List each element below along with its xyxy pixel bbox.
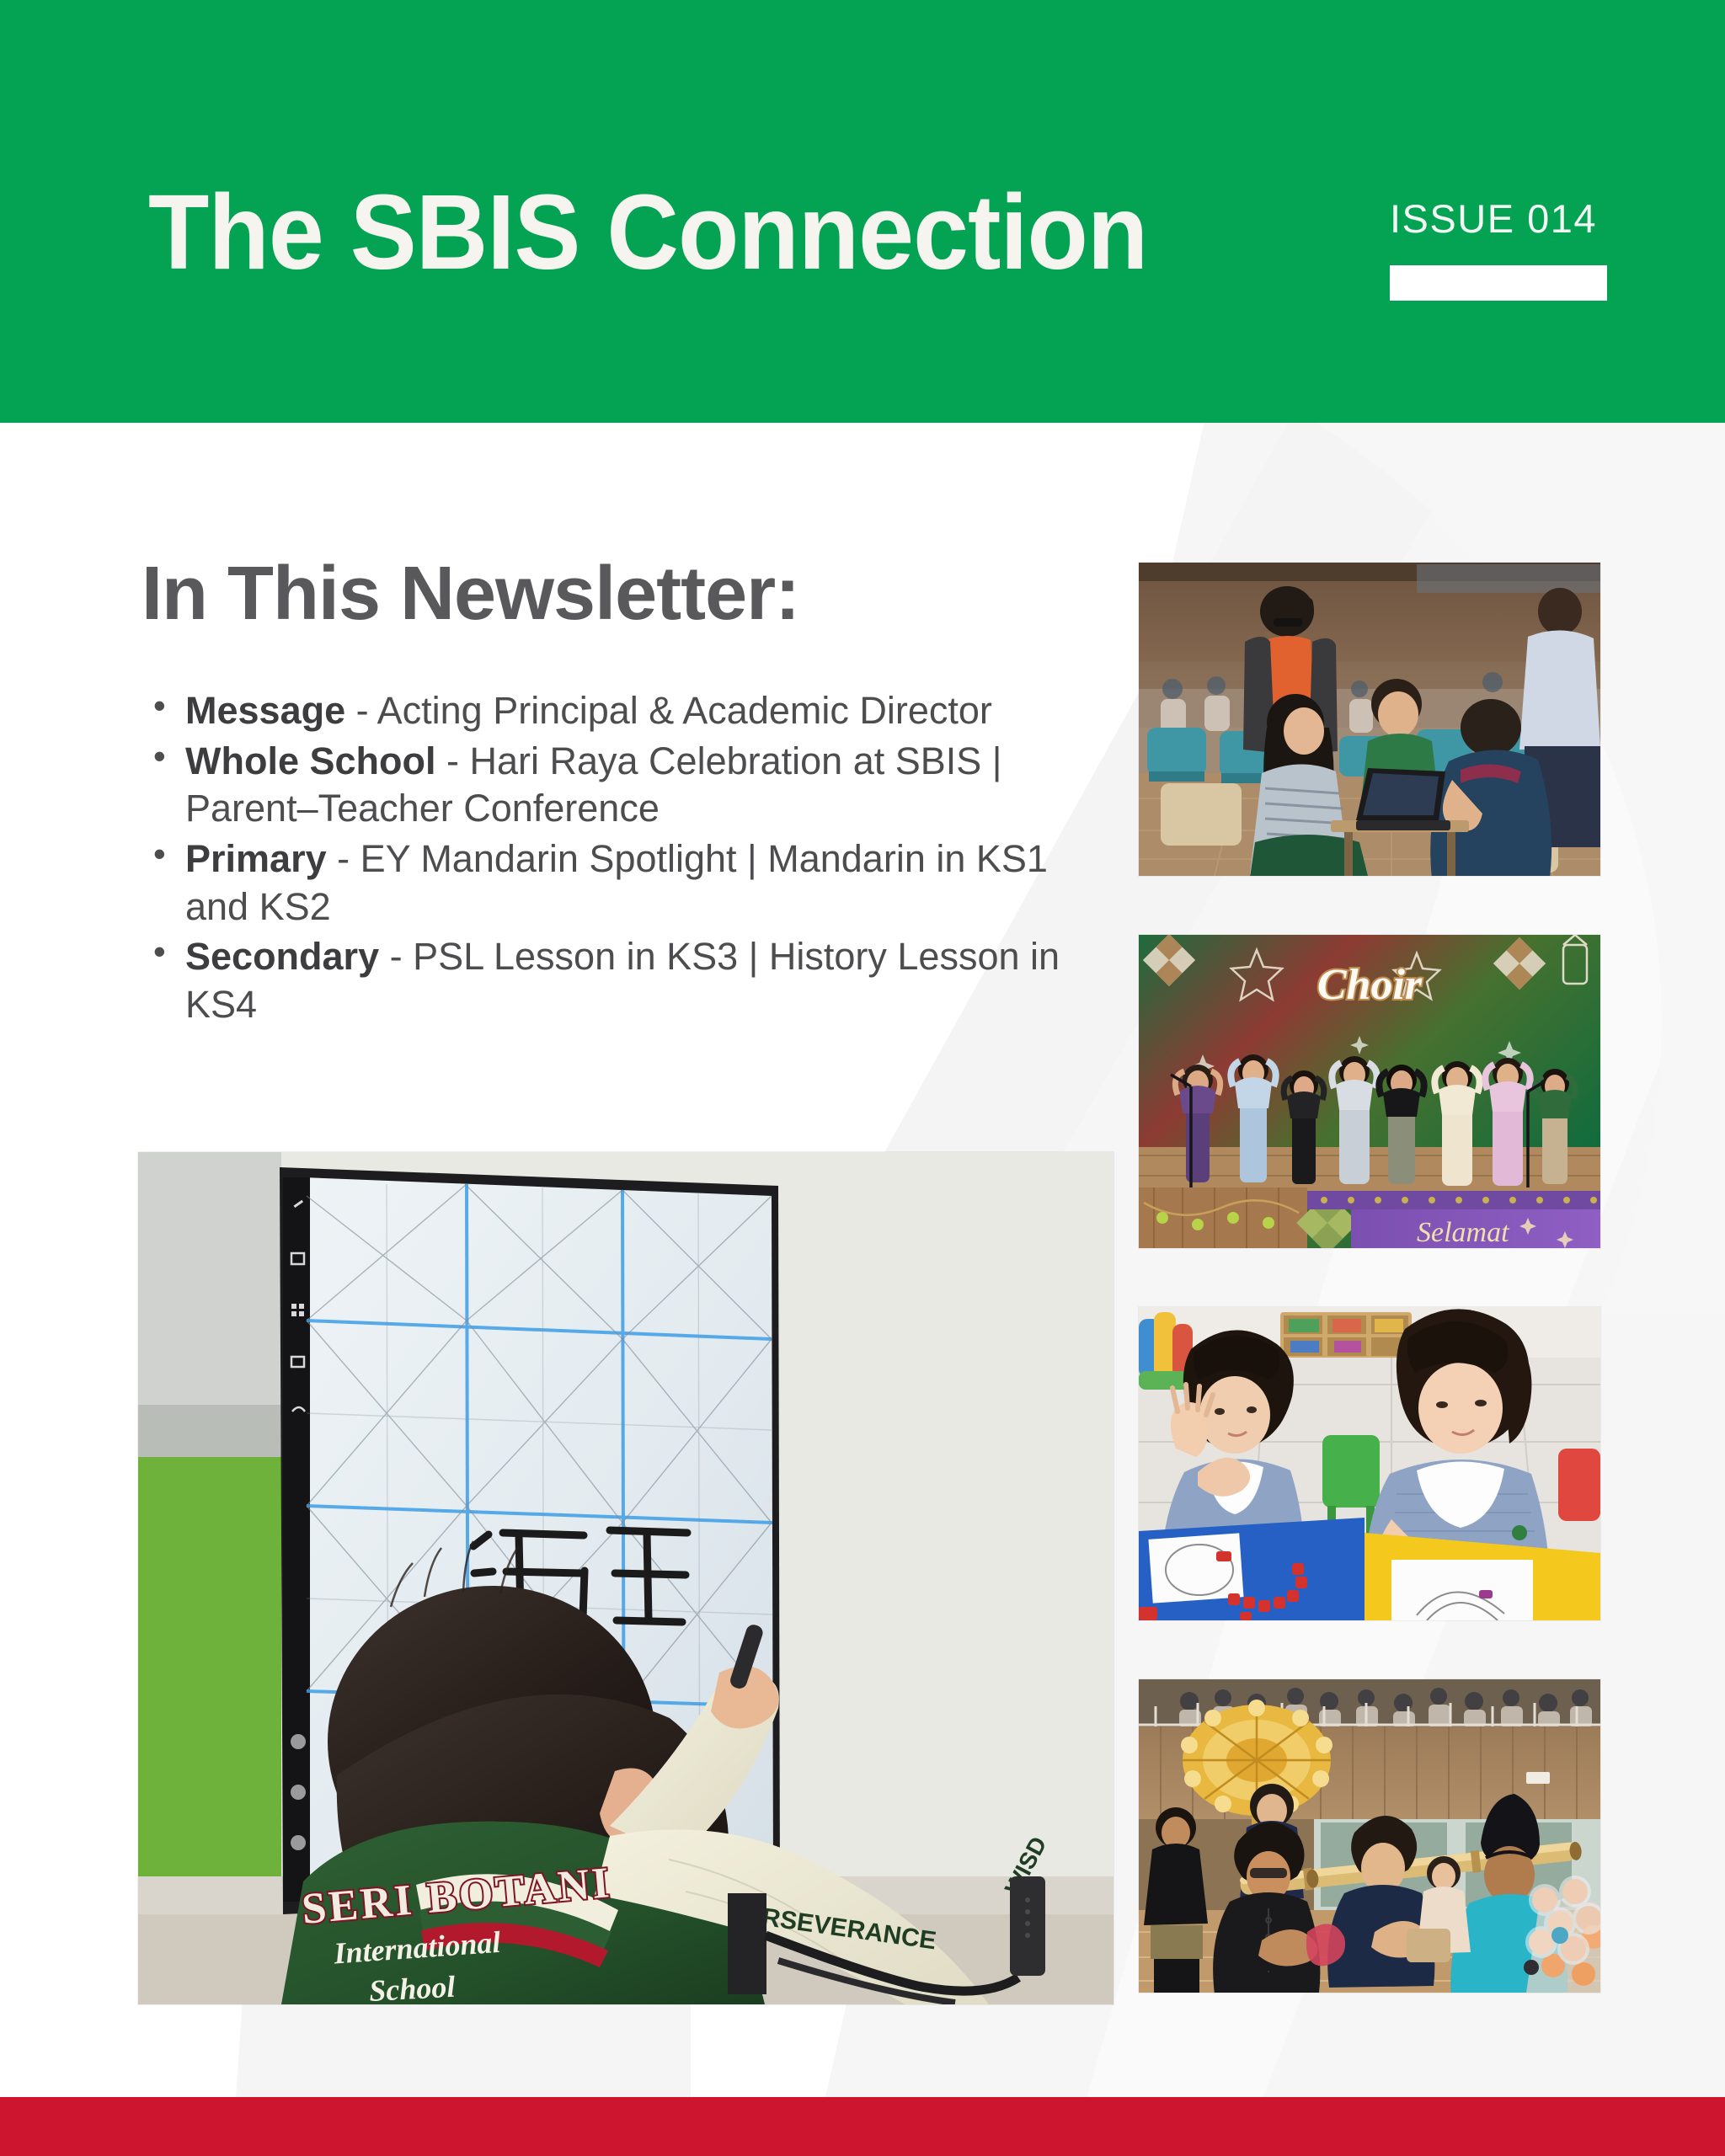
side-photo-parent-teacher-conference <box>1139 563 1600 876</box>
issue-badge: ISSUE 014 <box>1390 195 1607 301</box>
side-photo-early-years-activity <box>1139 1307 1600 1620</box>
page-title: The SBIS Connection <box>148 179 1147 286</box>
issue-number-label: ISSUE 014 <box>1390 195 1607 242</box>
main-photo-student-writing-mandarin: PERSEVERANCE WISD SERI BOTANI Internatio… <box>138 1152 1114 2004</box>
footer-accent-bar <box>0 2097 1725 2156</box>
stage-banner-text: Selamat <box>1417 1217 1510 1248</box>
toc-list: Message - Acting Principal & Academic Di… <box>142 687 1085 1029</box>
issue-underline-bar <box>1390 265 1607 301</box>
toc-item-lead: Primary <box>185 837 327 880</box>
table-of-contents-panel: In This Newsletter: Message - Acting Pri… <box>142 556 1085 1032</box>
newsletter-cover-page: The SBIS Connection ISSUE 014 In This Ne… <box>0 0 1725 2156</box>
list-item: Whole School - Hari Raya Celebration at … <box>142 738 1085 833</box>
masthead-header: The SBIS Connection ISSUE 014 <box>0 0 1725 423</box>
svg-text:School: School <box>368 1970 456 2004</box>
list-item: Secondary - PSL Lesson in KS3 | History … <box>142 933 1085 1028</box>
section-heading: In This Newsletter: <box>142 556 1085 632</box>
side-photo-hari-raya-choir: Choir <box>1139 935 1600 1248</box>
side-photo-column: Choir <box>1139 563 1600 1993</box>
list-item: Primary - EY Mandarin Spotlight | Mandar… <box>142 835 1085 931</box>
stage-backdrop-text: Choir <box>1317 961 1423 1009</box>
toc-item-lead: Whole School <box>185 739 436 782</box>
side-photo-cultural-procession <box>1139 1679 1600 1993</box>
toc-item-lead: Secondary <box>185 935 379 978</box>
toc-item-lead: Message <box>185 689 345 732</box>
toc-item-rest: - Acting Principal & Academic Director <box>345 689 992 732</box>
list-item: Message - Acting Principal & Academic Di… <box>142 687 1085 735</box>
